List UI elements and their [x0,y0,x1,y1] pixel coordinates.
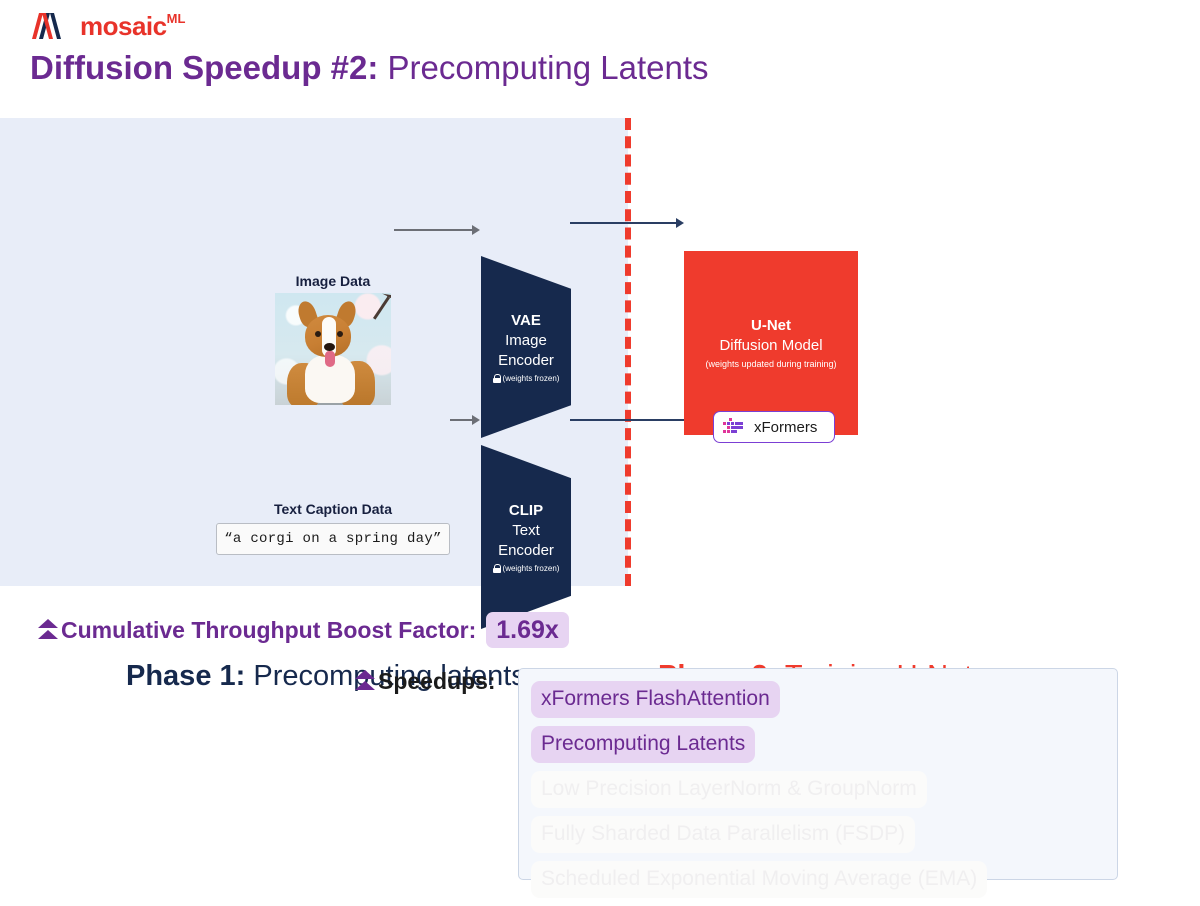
speedup-item[interactable]: Low Precision LayerNorm & GroupNorm [531,771,927,808]
double-chevron-up-icon [355,670,375,692]
arrow-image-to-vae-line [394,229,472,231]
clip-title: CLIP [509,501,543,521]
clip-subtitle-1: Text [512,521,540,541]
xformers-badge: xFormers [713,411,835,443]
vae-subtitle-2: Encoder [498,351,554,371]
unet-subtitle: Diffusion Model [719,336,822,356]
text-caption-field[interactable]: “a corgi on a spring day” [216,523,450,555]
text-caption-label: Text Caption Data [226,501,440,517]
text-caption-value: “a corgi on a spring day” [224,531,442,547]
arrow-vae-to-unet-line [570,222,678,224]
speedups-panel: xFormers FlashAttention Precomputing Lat… [518,668,1118,880]
xformers-badge-label: xFormers [754,420,817,435]
logo-wordmark: mosaic [80,12,167,40]
arrow-caption-to-clip-line [450,419,472,421]
vae-frozen-text: (weights frozen) [503,374,560,383]
speedup-item[interactable]: Precomputing Latents [531,726,755,763]
unet-note: (weights updated during training) [705,357,836,371]
speedup-item[interactable]: Fully Sharded Data Parallelism (FSDP) [531,816,915,853]
speedup-item[interactable]: Scheduled Exponential Moving Average (EM… [531,861,987,898]
logo-superscript: ML [167,12,186,25]
double-chevron-up-icon [38,619,58,641]
speedup-item[interactable]: xFormers FlashAttention [531,681,780,718]
page-title-bold: Diffusion Speedup #2: [30,49,378,86]
arrow-image-to-vae-head [472,225,480,235]
clip-frozen-note: (weights frozen) [493,564,560,573]
image-data-label: Image Data [226,273,440,289]
mosaicml-logo: mosaic ML [30,12,185,42]
clip-subtitle-2: Encoder [498,541,554,561]
boost-value-chip: 1.69x [486,612,569,648]
xformers-pixel-logo-icon [723,418,747,436]
arrow-caption-to-clip-head [472,415,480,425]
boost-label: Cumulative Throughput Boost Factor: [61,617,476,644]
page-title: Diffusion Speedup #2: Precomputing Laten… [30,48,709,88]
corgi-photo [275,293,391,405]
phase1-bold: Phase 1: [126,660,245,692]
clip-frozen-text: (weights frozen) [503,564,560,573]
unet-block: U-Net Diffusion Model (weights updated d… [684,251,858,435]
arrow-vae-to-unet-head [676,218,684,228]
lock-icon [493,564,501,573]
slide-root: mosaic ML Diffusion Speedup #2: Precompu… [0,0,1200,900]
speedups-label: Speedups: [378,668,496,694]
page-title-normal: Precomputing Latents [378,49,708,86]
mosaicml-logo-icon [30,12,74,40]
vae-title: VAE [511,311,541,331]
speedups-label-row: Speedups: [355,668,496,695]
phase-divider [625,118,631,586]
pipeline-diagram: Image Data Text Caption Data “a corgi on… [0,118,1200,586]
lock-icon [493,374,501,383]
vae-frozen-note: (weights frozen) [493,374,560,383]
unet-title: U-Net [751,316,791,336]
boost-row: Cumulative Throughput Boost Factor: 1.69… [38,612,569,648]
vae-subtitle-1: Image [505,331,547,351]
